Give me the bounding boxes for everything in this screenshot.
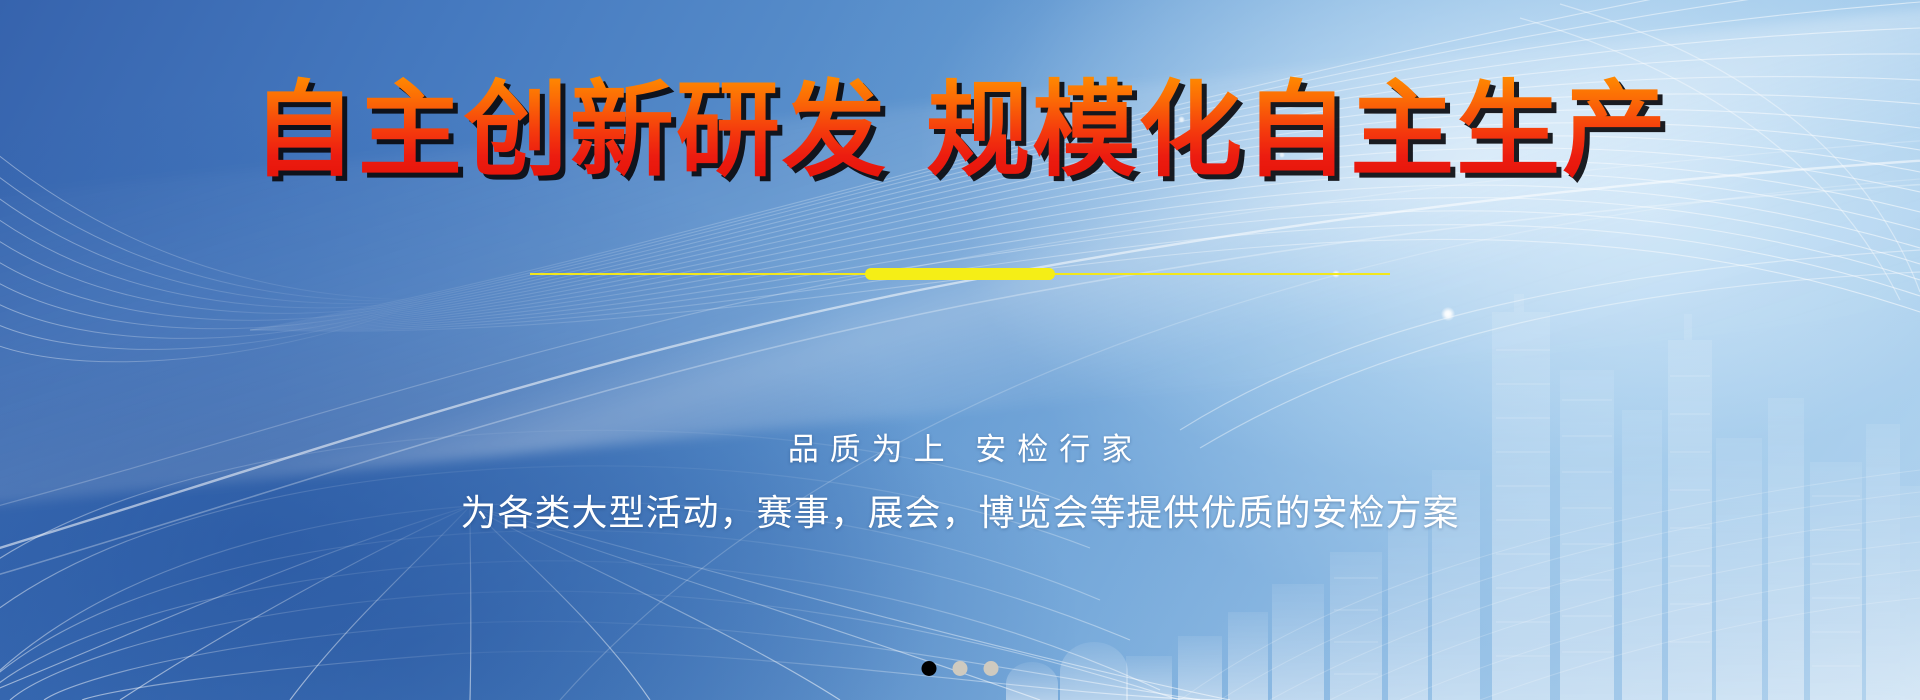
banner-headline: 自主创新研发 规模化自主生产 <box>0 76 1920 185</box>
carousel-indicators[interactable] <box>922 661 999 676</box>
carousel-dot-3[interactable] <box>984 661 999 676</box>
carousel-dot-2[interactable] <box>953 661 968 676</box>
banner-subtitle: 为各类大型活动，赛事，展会，博览会等提供优质的安检方案 <box>0 484 1920 536</box>
carousel-dot-1[interactable] <box>922 661 937 676</box>
banner-content: 自主创新研发 规模化自主生产 品质为上 安检行家 为各类大型活动，赛事，展会，博… <box>0 0 1920 700</box>
banner-tagline: 品质为上 安检行家 <box>0 424 1920 469</box>
divider <box>530 268 1390 280</box>
divider-center-segment <box>865 268 1055 280</box>
hero-banner: 自主创新研发 规模化自主生产 品质为上 安检行家 为各类大型活动，赛事，展会，博… <box>0 0 1920 700</box>
